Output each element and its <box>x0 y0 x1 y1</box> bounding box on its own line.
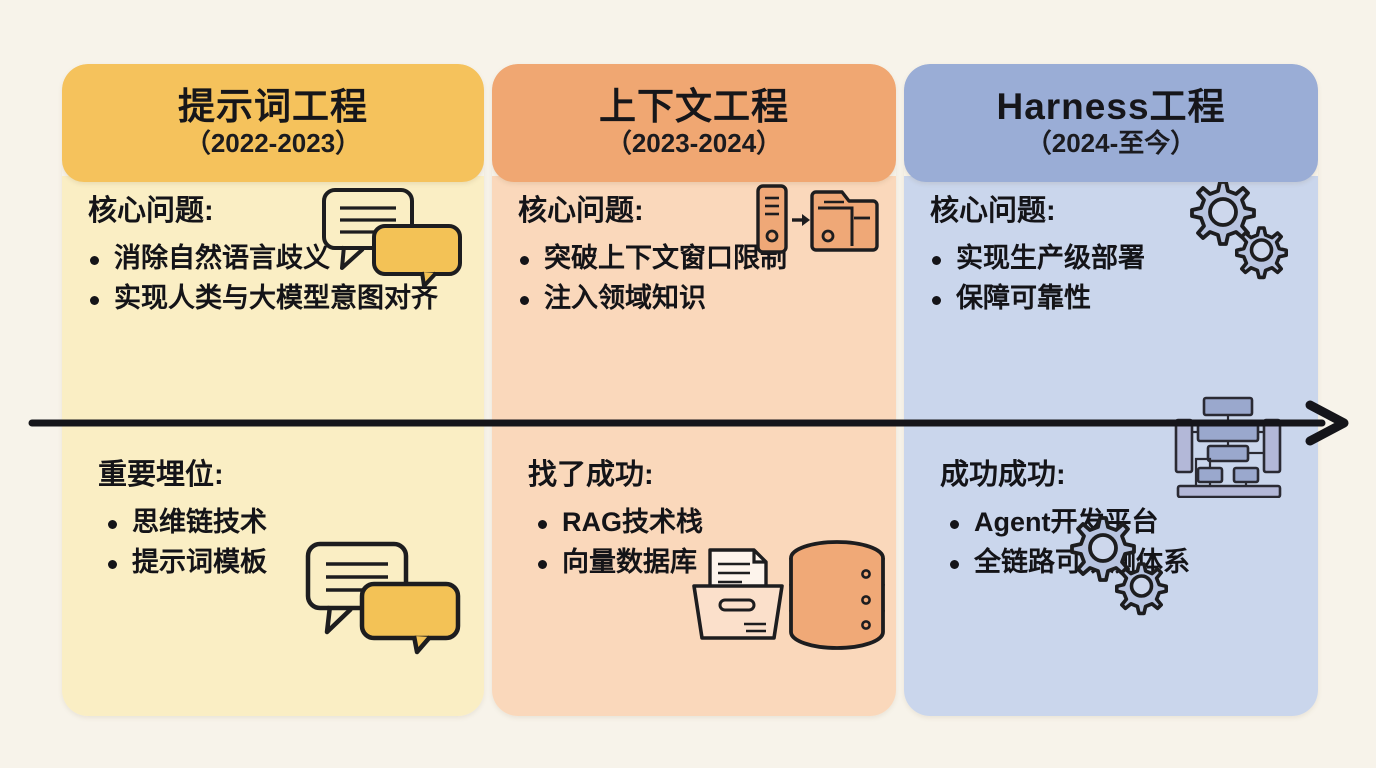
card-title: Harness工程 <box>996 88 1225 127</box>
bullet-list: 消除自然语言歧义 实现人类与大模型意图对齐 <box>84 239 462 319</box>
card-header-harness-engineering: Harness工程 （2024-至今） <box>904 64 1318 182</box>
section-core-problem: 核心问题: 实现生产级部署 保障可靠性 <box>904 176 1318 430</box>
section-label: 找了成功: <box>528 458 874 493</box>
list-item: 实现生产级部署 <box>926 239 1296 279</box>
list-item: 向量数据库 <box>514 543 874 583</box>
bullet-list: Agent开发平台 全链路可观测体系 <box>926 503 1296 583</box>
section-label: 重要埋位: <box>98 458 462 493</box>
bullet-list: RAG技术栈 向量数据库 <box>514 503 874 583</box>
card-title: 上下文工程 <box>599 88 789 127</box>
bullet-list: 思维链技术 提示词模板 <box>84 503 462 583</box>
list-item: RAG技术栈 <box>514 503 874 543</box>
section-label: 核心问题: <box>930 194 1296 229</box>
card-period: （2024-至今） <box>1026 129 1197 158</box>
section-label: 成功成功: <box>940 458 1296 493</box>
card-body-prompt-engineering: 核心问题: 消除自然语言歧义 实现人类与大模型意图对齐 <box>62 176 484 716</box>
section-core-problem: 核心问题: 消除自然语言歧义 实现人类与大模型意图对齐 <box>62 176 484 430</box>
stage-card-prompt-engineering: 提示词工程 （2022-2023） 核心问题: 消除自然语言歧义 实现人类与大模… <box>62 64 484 716</box>
list-item: 全链路可观测体系 <box>926 543 1296 583</box>
card-header-context-engineering: 上下文工程 （2023-2024） <box>492 64 896 182</box>
section-label: 核心问题: <box>518 194 874 229</box>
list-item: 思维链技术 <box>84 503 462 543</box>
list-item: 提示词模板 <box>84 543 462 583</box>
list-item: 注入领域知识 <box>514 279 874 319</box>
stage-card-context-engineering: 上下文工程 （2023-2024） 核心问题: 突破上下文窗口限制 注入领域知识 <box>492 64 896 716</box>
card-body-harness-engineering: 核心问题: 实现生产级部署 保障可靠性 <box>904 176 1318 716</box>
section-key-milestones: 重要埋位: 思维链技术 提示词模板 <box>62 430 484 583</box>
card-title: 提示词工程 <box>178 88 368 127</box>
section-key-milestones: 找了成功: RAG技术栈 向量数据库 <box>492 430 896 583</box>
list-item: Agent开发平台 <box>926 503 1296 543</box>
list-item: 保障可靠性 <box>926 279 1296 319</box>
list-item: 实现人类与大模型意图对齐 <box>84 279 462 319</box>
infographic-canvas: 提示词工程 （2022-2023） 核心问题: 消除自然语言歧义 实现人类与大模… <box>0 0 1376 768</box>
list-item: 突破上下文窗口限制 <box>514 239 874 279</box>
stage-card-harness-engineering: Harness工程 （2024-至今） 核心问题: 实现生产级部署 保障可靠性 <box>904 64 1318 716</box>
card-period: （2022-2023） <box>185 129 361 158</box>
bullet-list: 实现生产级部署 保障可靠性 <box>926 239 1296 319</box>
section-key-milestones: 成功成功: Agent开发平台 全链路可观测体系 <box>904 430 1318 583</box>
section-core-problem: 核心问题: 突破上下文窗口限制 注入领域知识 <box>492 176 896 430</box>
bullet-list: 突破上下文窗口限制 注入领域知识 <box>514 239 874 319</box>
card-header-prompt-engineering: 提示词工程 （2022-2023） <box>62 64 484 182</box>
card-body-context-engineering: 核心问题: 突破上下文窗口限制 注入领域知识 <box>492 176 896 716</box>
card-period: （2023-2024） <box>606 129 782 158</box>
list-item: 消除自然语言歧义 <box>84 239 462 279</box>
section-label: 核心问题: <box>88 194 462 229</box>
